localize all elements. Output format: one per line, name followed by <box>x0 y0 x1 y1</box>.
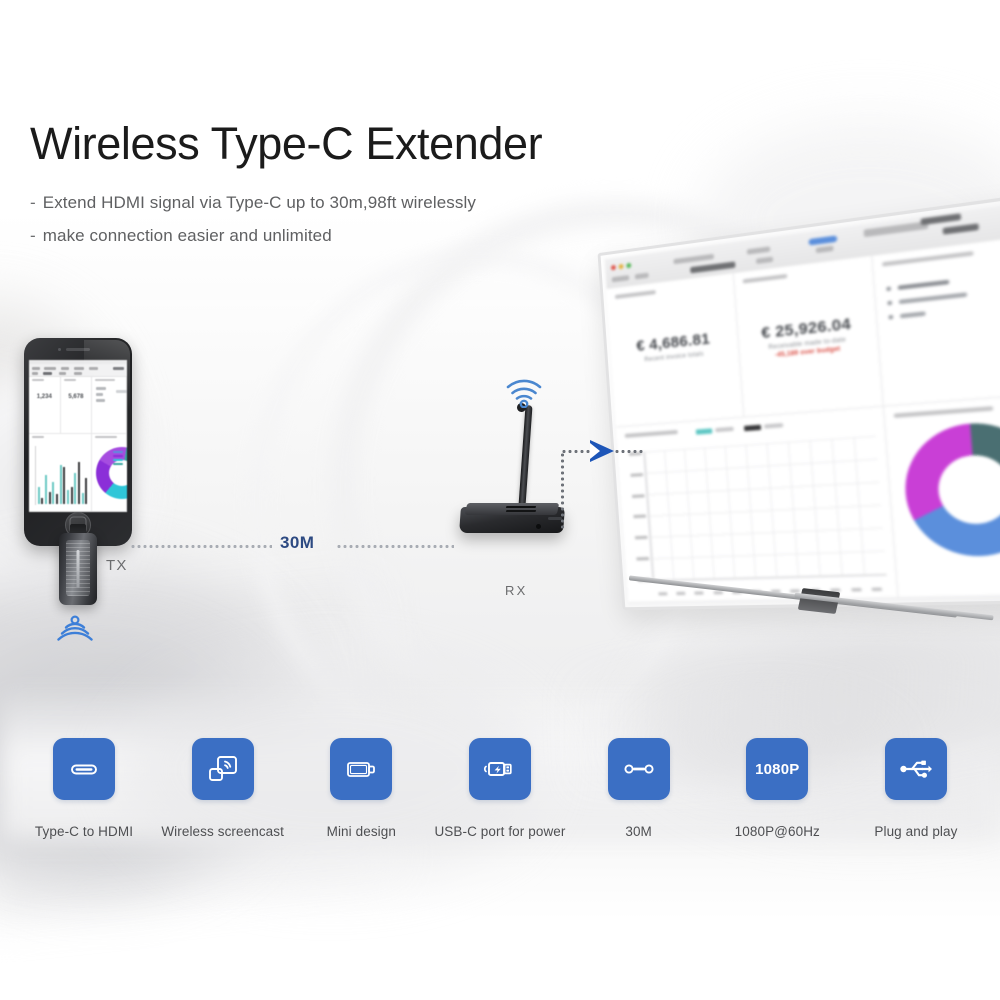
bar-chart-plot <box>643 436 886 582</box>
phone-bar-series <box>37 448 88 504</box>
tx-label: TX <box>106 557 128 574</box>
feature-icon-row: Type-C to HDMI Wireless screencast <box>0 738 1000 839</box>
bar-series <box>644 436 886 581</box>
phone-kpi-value: 5,678 <box>61 394 92 400</box>
screencast-icon[interactable] <box>192 738 254 800</box>
feature-label: Mini design <box>327 824 396 839</box>
tx-transmitter <box>59 533 97 605</box>
phone-kpi-value: 1,234 <box>29 394 60 400</box>
header-block: Wireless Type-C Extender -Extend HDMI si… <box>30 118 730 252</box>
phone-kpi-card: 1,234 <box>29 377 61 434</box>
phone-donut-panel <box>92 434 127 512</box>
feature-item[interactable]: 30M <box>577 738 701 839</box>
tv-frame: € 4,686.81 Recent invoice totals € 25,92… <box>598 193 1000 611</box>
kpi-card: € 4,686.81 Recent invoice totals <box>607 273 745 427</box>
window-controls-icon <box>611 263 632 271</box>
bullet-text: make connection easier and unlimited <box>43 226 332 245</box>
feature-label: 30M <box>625 824 652 839</box>
feature-label: 1080P@60Hz <box>735 824 820 839</box>
feature-label: Plug and play <box>874 824 957 839</box>
feature-item[interactable]: 1080P 1080P@60Hz <box>715 738 839 839</box>
wifi-signal-icon <box>55 612 95 644</box>
donut-chart <box>901 418 1000 558</box>
bullet-text: Extend HDMI signal via Type-C up to 30m,… <box>43 193 476 212</box>
feature-item[interactable]: Wireless screencast <box>161 738 285 839</box>
mini-dongle-icon[interactable] <box>330 738 392 800</box>
arrow-right-icon <box>590 440 614 462</box>
smartphone: 1,234 5,678 <box>24 338 132 546</box>
bar-chart-panel <box>616 407 898 604</box>
distance-link-icon[interactable] <box>608 738 670 800</box>
list-panel <box>872 236 1000 407</box>
list-item <box>886 272 1000 292</box>
phone-body: 1,234 5,678 <box>24 338 132 546</box>
tv-stand <box>628 588 988 622</box>
usb-power-icon[interactable] <box>469 738 531 800</box>
bullet-item: -Extend HDMI signal via Type-C up to 30m… <box>30 186 730 219</box>
feature-bullet-list: -Extend HDMI signal via Type-C up to 30m… <box>30 186 730 252</box>
rx-label: RX <box>505 583 527 598</box>
antenna <box>518 405 533 513</box>
resolution-1080p-icon[interactable]: 1080P <box>746 738 808 800</box>
feature-label: USB-C port for power <box>434 824 565 839</box>
connection-dotted-line <box>336 545 454 548</box>
status-led-icon <box>536 524 541 529</box>
feature-item[interactable]: USB-C port for power <box>438 738 562 839</box>
usb-icon[interactable] <box>885 738 947 800</box>
feature-item[interactable]: Mini design <box>299 738 423 839</box>
usb-c-port-icon[interactable] <box>53 738 115 800</box>
feature-item[interactable]: Type-C to HDMI <box>22 738 146 839</box>
bullet-marker: - <box>30 219 36 252</box>
distance-label: 30M <box>280 533 314 553</box>
dashboard-grid: € 4,686.81 Recent invoice totals € 25,92… <box>607 236 1000 603</box>
list-item <box>888 301 1000 320</box>
bullet-item: -make connection easier and unlimited <box>30 219 730 252</box>
page-title: Wireless Type-C Extender <box>30 118 730 170</box>
wifi-signal-icon <box>504 378 544 408</box>
kpi-card: € 25,926.04 Receivable made to-date -45,… <box>734 256 884 418</box>
connection-dotted-line <box>130 545 272 548</box>
feature-label: Type-C to HDMI <box>35 824 133 839</box>
rx-receiver <box>460 405 570 555</box>
feature-label: Wireless screencast <box>161 824 284 839</box>
bullet-marker: - <box>30 186 36 219</box>
connection-dotted-line <box>614 450 644 453</box>
phone-camera-icon <box>58 348 61 351</box>
feature-item[interactable]: Plug and play <box>854 738 978 839</box>
phone-chart-legend <box>113 451 123 465</box>
connection-dotted-line-vertical <box>561 452 564 530</box>
phone-bar-chart <box>29 434 92 512</box>
television: € 4,686.81 Recent invoice totals € 25,92… <box>610 252 1000 612</box>
product-marketing-banner: Wireless Type-C Extender -Extend HDMI si… <box>0 0 1000 1000</box>
resolution-text: 1080P <box>755 761 799 778</box>
donut-chart-panel <box>884 394 1000 598</box>
tv-screen: € 4,686.81 Recent invoice totals € 25,92… <box>605 202 1000 603</box>
chart-legend <box>696 423 784 435</box>
